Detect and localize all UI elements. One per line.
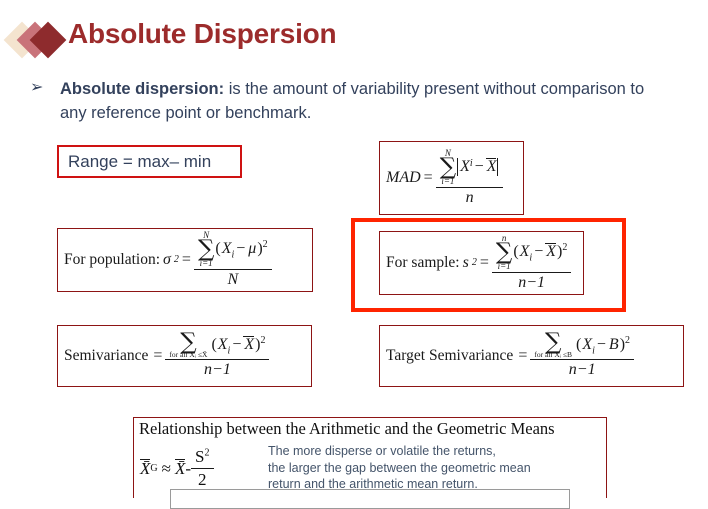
sample-numerator: n ∑ i=1 (Xi−X)2 <box>492 234 571 271</box>
formula-box-semivariance: Semivariance = ∑ for all Xᵢ ≤X̄ (Xi−X)2 … <box>57 325 312 387</box>
rel-arith-mean: X̄ <box>175 459 185 478</box>
population-equals: = <box>179 251 194 269</box>
sample-sum-lower-limit: i=1 <box>498 262 511 271</box>
sample-formula: For sample: s2 = n ∑ i=1 (Xi−X)2 n−1 <box>386 234 571 291</box>
sample-term-x: X <box>519 243 530 260</box>
range-formula-text: Range = max– min <box>68 152 211 172</box>
paren-open: ( <box>214 240 220 257</box>
formula-box-mad: MAD = N ∑ i=1 Xi − X n <box>379 141 524 215</box>
mad-equals: = <box>424 169 436 187</box>
semivariance-sum-condition: for all Xᵢ ≤X̄ <box>169 351 207 359</box>
summation-icon: ∑ for all Xᵢ ≤B <box>534 333 572 359</box>
paren-open: ( <box>512 243 518 260</box>
target-term-exponent: 2 <box>625 335 630 346</box>
mad-sum-lower-limit: i=1 <box>441 177 454 186</box>
target-term-minus: − <box>595 336 608 353</box>
rel-denominator: 2 <box>191 468 213 490</box>
sigma-glyph: ∑ <box>496 243 512 261</box>
sample-term-minus: − <box>532 243 545 260</box>
mad-term-mean: X <box>486 158 497 176</box>
sample-term-mean: X <box>545 243 556 261</box>
semivariance-term-minus: − <box>230 336 243 353</box>
semivariance-fraction: ∑ for all Xᵢ ≤X̄ (Xi−X)2 n−1 <box>165 333 269 380</box>
population-sum-lower-limit: i=1 <box>200 259 213 268</box>
target-semivariance-numerator: ∑ for all Xᵢ ≤B (Xi−B)2 <box>530 333 634 360</box>
rel-approx: ≈ <box>158 459 175 479</box>
semivariance-label: Semivariance <box>64 347 151 365</box>
formula-box-relationship: Relationship between the Arithmetic and … <box>133 417 607 498</box>
semivariance-formula: Semivariance = ∑ for all Xᵢ ≤X̄ (Xi−X)2 … <box>64 333 269 380</box>
sample-s: s <box>463 254 472 272</box>
bullet-block: ➢ Absolute dispersion: is the amount of … <box>30 78 650 126</box>
paren-open: ( <box>210 336 216 353</box>
sample-term-exponent: 2 <box>562 242 567 253</box>
relationship-formula-row: X̄G ≈ X̄ - S2 2 <box>140 447 214 490</box>
rel-geo-mean: X̄ <box>140 459 150 478</box>
sample-term: (Xi−X)2 <box>512 242 567 264</box>
mad-fraction: N ∑ i=1 Xi − X n <box>436 149 504 206</box>
summation-icon: n ∑ i=1 <box>496 234 512 270</box>
relationship-body: X̄G ≈ X̄ - S2 2 The more disperse or vol… <box>134 439 606 493</box>
sample-label: For sample: <box>386 254 463 272</box>
mad-term-x: X <box>459 158 470 176</box>
relationship-heading: Relationship between the Arithmetic and … <box>134 418 606 439</box>
population-sigma: σ <box>163 251 174 269</box>
relationship-note-line: The more disperse or volatile the return… <box>268 443 531 460</box>
sigma-glyph: ∑ <box>198 240 214 258</box>
mad-numerator: N ∑ i=1 Xi − X <box>436 149 504 186</box>
semivariance-term-x: X <box>217 336 228 353</box>
page-title: Absolute Dispersion <box>68 18 336 50</box>
mad-abs-term: Xi − X <box>456 158 499 176</box>
arrow-bullet-icon: ➢ <box>30 80 48 96</box>
partial-box-below <box>170 489 570 509</box>
population-formula: For population: σ2 = N ∑ i=1 (Xi−μ)2 N <box>64 231 272 288</box>
target-semivariance-fraction: ∑ for all Xᵢ ≤B (Xi−B)2 n−1 <box>530 333 634 380</box>
sigma-glyph: ∑ <box>545 333 561 351</box>
semivariance-denominator: n−1 <box>165 359 269 379</box>
slide-title-bar: Absolute Dispersion <box>0 18 708 64</box>
target-semivariance-denominator: n−1 <box>530 359 634 379</box>
population-numerator: N ∑ i=1 (Xi−μ)2 <box>194 231 272 268</box>
population-denominator: N <box>194 269 272 289</box>
abs-bar-left <box>457 158 458 176</box>
mad-formula: MAD = N ∑ i=1 Xi − X n <box>386 149 503 206</box>
summation-icon: N ∑ i=1 <box>198 231 214 267</box>
relationship-note-line: the larger the gap between the geometric… <box>268 460 531 477</box>
sigma-glyph: ∑ <box>440 158 456 176</box>
target-semivariance-equals: = <box>516 347 530 365</box>
formula-box-range: Range = max– min <box>57 145 242 178</box>
population-term-x: X <box>221 240 232 257</box>
bullet-text: Absolute dispersion: is the amount of va… <box>60 78 650 126</box>
formula-box-population-variance: For population: σ2 = N ∑ i=1 (Xi−μ)2 N <box>57 228 313 292</box>
population-term-exponent: 2 <box>263 239 268 250</box>
mad-lhs: MAD <box>386 169 424 187</box>
population-term-minus: − <box>234 240 247 257</box>
population-term: (Xi−μ)2 <box>214 239 267 261</box>
population-term-mu: μ <box>247 240 256 257</box>
target-term-x: X <box>581 336 592 353</box>
target-term-b: B <box>608 336 619 353</box>
mad-denominator: n <box>436 187 504 207</box>
abs-bar-right <box>497 158 498 176</box>
semivariance-term-mean: X <box>243 336 254 354</box>
semivariance-term-exponent: 2 <box>260 335 265 346</box>
bullet-lead-term: Absolute dispersion: <box>60 80 224 98</box>
target-semivariance-label: Target Semivariance <box>386 347 516 365</box>
sample-fraction: n ∑ i=1 (Xi−X)2 n−1 <box>492 234 571 291</box>
rel-numerator: S2 <box>191 447 213 468</box>
mad-term-minus: − <box>473 158 486 176</box>
formula-box-target-semivariance: Target Semivariance = ∑ for all Xᵢ ≤B (X… <box>379 325 684 387</box>
target-semivariance-sum-condition: for all Xᵢ ≤B <box>534 351 572 359</box>
rel-geo-sub: G <box>150 463 157 474</box>
semivariance-equals: = <box>151 347 165 365</box>
sigma-glyph: ∑ <box>180 333 196 351</box>
target-semivariance-formula: Target Semivariance = ∑ for all Xᵢ ≤B (X… <box>386 333 634 380</box>
relationship-formula: X̄G ≈ X̄ - S2 2 <box>134 439 260 490</box>
formula-box-sample-variance: For sample: s2 = n ∑ i=1 (Xi−X)2 n−1 <box>379 231 584 295</box>
population-label: For population: <box>64 251 163 269</box>
semivariance-numerator: ∑ for all Xᵢ ≤X̄ (Xi−X)2 <box>165 333 269 360</box>
sample-denominator: n−1 <box>492 272 571 292</box>
summation-icon: N ∑ i=1 <box>440 149 456 185</box>
relationship-note: The more disperse or volatile the return… <box>260 439 531 493</box>
semivariance-term: (Xi−X)2 <box>207 335 265 357</box>
target-semivariance-term: (Xi−B)2 <box>572 335 630 357</box>
summation-icon: ∑ for all Xᵢ ≤X̄ <box>169 333 207 359</box>
population-fraction: N ∑ i=1 (Xi−μ)2 N <box>194 231 272 288</box>
rel-num-s: S <box>195 447 204 466</box>
rel-num-exponent: 2 <box>205 447 210 458</box>
sample-equals: = <box>477 254 492 272</box>
rel-fraction: S2 2 <box>191 447 213 490</box>
